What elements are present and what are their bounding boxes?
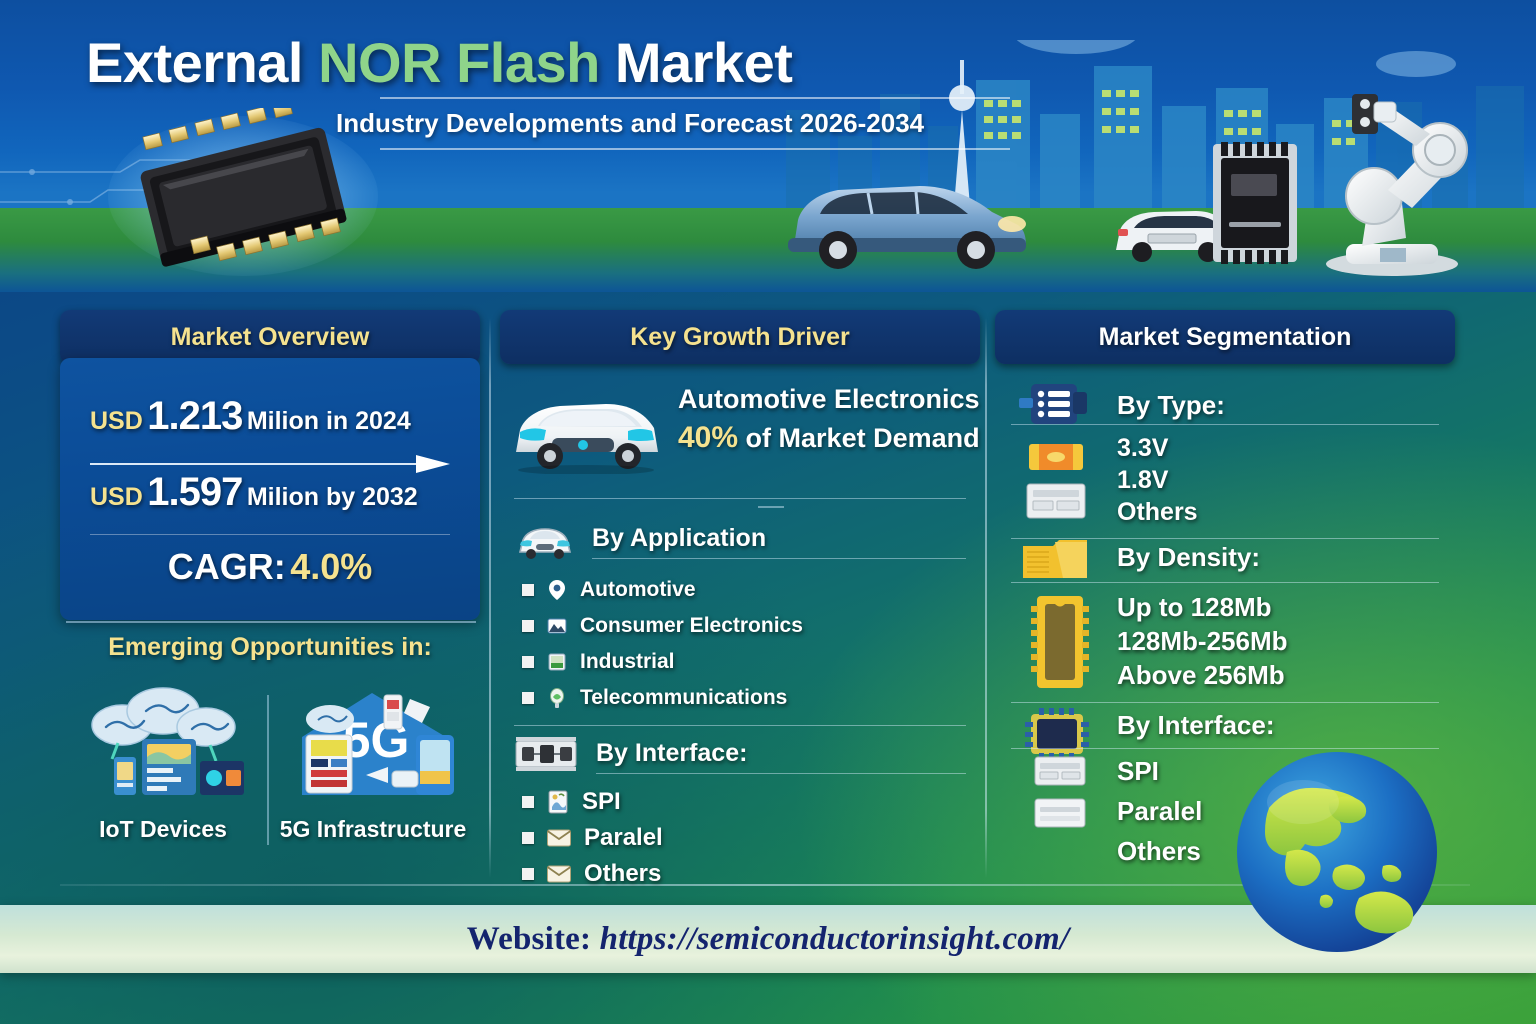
emerging-opportunities-panel: Emerging Opportunities in: <box>60 625 480 875</box>
plug-list-icon <box>1017 378 1095 434</box>
bullet-square <box>522 656 534 668</box>
overview-row-2032: USD 1.597 Milion by 2032 <box>90 470 418 515</box>
bullet-square <box>522 832 534 844</box>
key-growth-driver-title: Key Growth Driver <box>630 323 850 352</box>
application-label-telecom: Telecommunications <box>580 686 787 710</box>
application-item-automotive[interactable]: Automotive <box>522 578 696 602</box>
overview-divider <box>90 534 450 535</box>
driver-hero-line1: Automotive Electronics <box>678 384 980 415</box>
bullet-square <box>522 620 534 632</box>
infographic-canvas: External NOR Flash Market Industry Devel… <box>0 0 1536 1024</box>
application-label-automotive: Automotive <box>580 578 696 602</box>
key-growth-driver-panel: Key Growth Driver Automotive Electronics <box>500 310 980 880</box>
image-photo-icon <box>546 615 568 637</box>
emerging-vertical-divider <box>267 695 269 845</box>
seg-by-interface-heading: By Interface: <box>1117 710 1275 741</box>
cagr-label: CAGR: <box>168 546 286 587</box>
interface-label-parallel: Paralel <box>584 824 663 852</box>
website-line[interactable]: Website: https://semiconductorinsight.co… <box>467 921 1069 958</box>
bullet-square <box>522 584 534 596</box>
panel-divider-left <box>489 318 491 878</box>
blue-sedan-icon <box>780 168 1030 278</box>
seg-interface-item-0: SPI <box>1117 756 1159 787</box>
monitor-screen-icon <box>546 651 568 673</box>
overview-cagr-row: CAGR: 4.0% <box>60 546 480 588</box>
module-card-icon <box>1033 754 1087 790</box>
driver-rule-2 <box>514 725 966 726</box>
bullet-square <box>522 796 534 808</box>
driver-rule-1b <box>758 506 784 508</box>
title-part-3: Market <box>600 31 793 94</box>
overview-rest-2: Milion by 2032 <box>247 483 418 511</box>
by-type-item-2: Others <box>1117 498 1198 527</box>
website-label: Website: <box>467 921 600 957</box>
antenna-bulb-icon <box>546 687 568 709</box>
market-overview-panel: USD 1.213 Milion in 2024 USD 1.597 Milio… <box>60 310 480 620</box>
cagr-value: 4.0% <box>290 546 372 587</box>
driver-rule-1 <box>514 498 966 499</box>
page-title: External NOR Flash Market <box>86 30 792 95</box>
gold-chip-icon <box>1027 438 1085 476</box>
by-density-bottom-rule <box>1011 702 1439 703</box>
application-item-telecom[interactable]: Telecommunications <box>522 686 787 710</box>
5g-network-icon: 5G <box>284 683 462 805</box>
overview-rest-1: Milion in 2024 <box>247 407 411 435</box>
interface-item-spi[interactable]: SPI <box>522 788 621 816</box>
subtitle-rule-top <box>380 97 1010 99</box>
market-overview-header: Market Overview <box>60 310 480 364</box>
title-part-1: External <box>86 31 318 94</box>
connector-module-icon <box>514 735 578 773</box>
car-front-icon <box>516 520 574 562</box>
header-banner: External NOR Flash Market Industry Devel… <box>0 0 1536 292</box>
application-label-consumer: Consumer Electronics <box>580 614 803 638</box>
white-car-icon <box>510 390 662 474</box>
module-card-icon <box>1025 480 1087 522</box>
by-density-rule <box>1011 582 1439 583</box>
application-item-consumer[interactable]: Consumer Electronics <box>522 614 803 638</box>
website-url[interactable]: https://semiconductorinsight.com/ <box>600 921 1070 957</box>
title-highlight: NOR Flash <box>318 31 600 94</box>
dip-chip-icon <box>1029 592 1091 692</box>
overview-value-2: 1.597 <box>147 470 242 514</box>
market-segmentation-title: Market Segmentation <box>1099 323 1352 352</box>
subtitle-rule-bottom <box>380 148 1010 150</box>
overview-usd-label-1: USD <box>90 407 143 435</box>
driver-hero-line2-rest: of Market Demand <box>738 423 980 453</box>
overview-value-1: 1.213 <box>147 394 242 438</box>
interface-item-parallel[interactable]: Paralel <box>522 824 663 852</box>
robot-arm-icon <box>1288 78 1488 278</box>
panel-divider-right <box>985 318 987 878</box>
key-growth-driver-header: Key Growth Driver <box>500 310 980 364</box>
world-globe-icon <box>1233 748 1441 956</box>
driver-by-interface-rule <box>596 773 966 774</box>
application-item-industrial[interactable]: Industrial <box>522 650 675 674</box>
driver-hero: Automotive Electronics 40% of Market Dem… <box>510 378 975 488</box>
envelope-icon <box>546 864 572 884</box>
emerging-item-label-5g: 5G Infrastructure <box>278 816 468 843</box>
yellow-folder-chip-icon <box>1019 538 1091 582</box>
by-type-rule <box>1011 424 1439 425</box>
by-application-heading: By Application <box>592 524 766 553</box>
bullet-square <box>522 692 534 704</box>
page-subtitle: Industry Developments and Forecast 2026-… <box>336 108 924 139</box>
by-type-item-0: 3.3V <box>1117 434 1168 463</box>
by-density-heading: By Density: <box>1117 542 1260 573</box>
application-label-industrial: Industrial <box>580 650 675 674</box>
emerging-item-iot[interactable]: IoT Devices <box>68 683 258 843</box>
document-page-icon <box>546 789 570 815</box>
overview-row-2024: USD 1.213 Milion in 2024 <box>90 394 411 439</box>
interface-item-others[interactable]: Others <box>522 860 661 888</box>
interface-label-others: Others <box>584 860 661 888</box>
emerging-item-label-iot: IoT Devices <box>68 816 258 843</box>
emerging-item-5g[interactable]: 5G 5G Infrastructure <box>278 683 468 843</box>
emerging-top-rule <box>66 621 476 623</box>
envelope-icon <box>546 828 572 848</box>
market-overview-body: USD 1.213 Milion in 2024 USD 1.597 Milio… <box>60 358 480 620</box>
driver-hero-percent: 40% <box>678 421 738 454</box>
by-density-item-0: Up to 128Mb <box>1117 592 1272 623</box>
module-card-icon <box>1033 796 1087 832</box>
by-type-item-1: 1.8V <box>1117 466 1168 495</box>
overview-usd-label-2: USD <box>90 483 143 511</box>
market-overview-title: Market Overview <box>171 323 370 352</box>
by-application-rule <box>592 558 966 559</box>
seg-interface-item-1: Paralel <box>1117 796 1202 827</box>
bullet-square <box>522 868 534 880</box>
seg-interface-item-2: Others <box>1117 836 1201 867</box>
by-density-item-1: 128Mb-256Mb <box>1117 626 1288 657</box>
market-segmentation-header: Market Segmentation <box>995 310 1455 364</box>
interface-label-spi: SPI <box>582 788 621 816</box>
iot-cloud-devices-icon <box>74 683 252 805</box>
by-density-item-2: Above 256Mb <box>1117 660 1285 691</box>
emerging-heading: Emerging Opportunities in: <box>60 633 480 662</box>
map-pin-icon <box>546 579 568 601</box>
driver-by-interface-heading: By Interface: <box>596 739 747 768</box>
by-type-heading: By Type: <box>1117 390 1225 421</box>
